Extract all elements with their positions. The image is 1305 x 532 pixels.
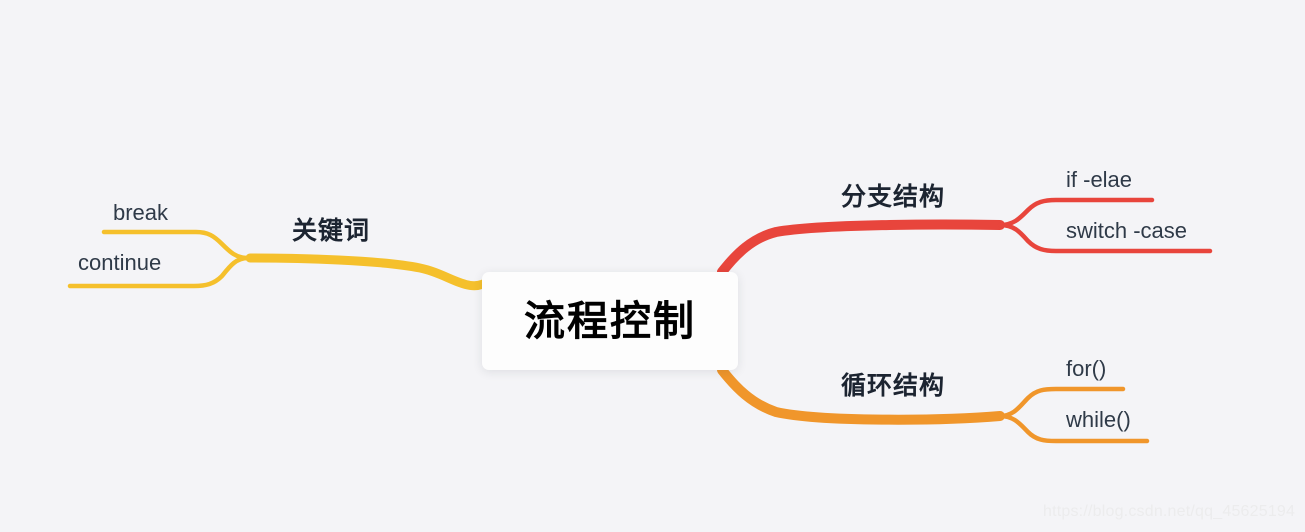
trunk-line-conditional <box>722 225 1000 272</box>
branch-label-keywords[interactable]: 关键词 <box>292 211 370 247</box>
leaf-label-switch-case[interactable]: switch -case <box>1066 218 1187 244</box>
leaf-label-break[interactable]: break <box>113 200 168 226</box>
root-node[interactable]: 流程控制 <box>482 272 738 370</box>
trunk-line-loop-thin <box>860 416 1000 420</box>
leaf-label-continue[interactable]: continue <box>78 250 161 276</box>
leaf-label-if-else[interactable]: if -elae <box>1066 167 1132 193</box>
leaf-label-while[interactable]: while() <box>1066 407 1131 433</box>
mindmap-canvas: 流程控制 关键词 分支结构 循环结构 break continue if -el… <box>0 0 1305 532</box>
root-node-label: 流程控制 <box>524 301 696 342</box>
branch-label-loop[interactable]: 循环结构 <box>841 366 945 402</box>
connector-lines <box>0 0 1305 532</box>
leaf-label-for[interactable]: for() <box>1066 356 1106 382</box>
watermark-text: https://blog.csdn.net/qq_45625194 <box>1043 503 1295 521</box>
branch-label-conditional[interactable]: 分支结构 <box>841 177 945 213</box>
trunk-line-keywords <box>250 258 490 286</box>
